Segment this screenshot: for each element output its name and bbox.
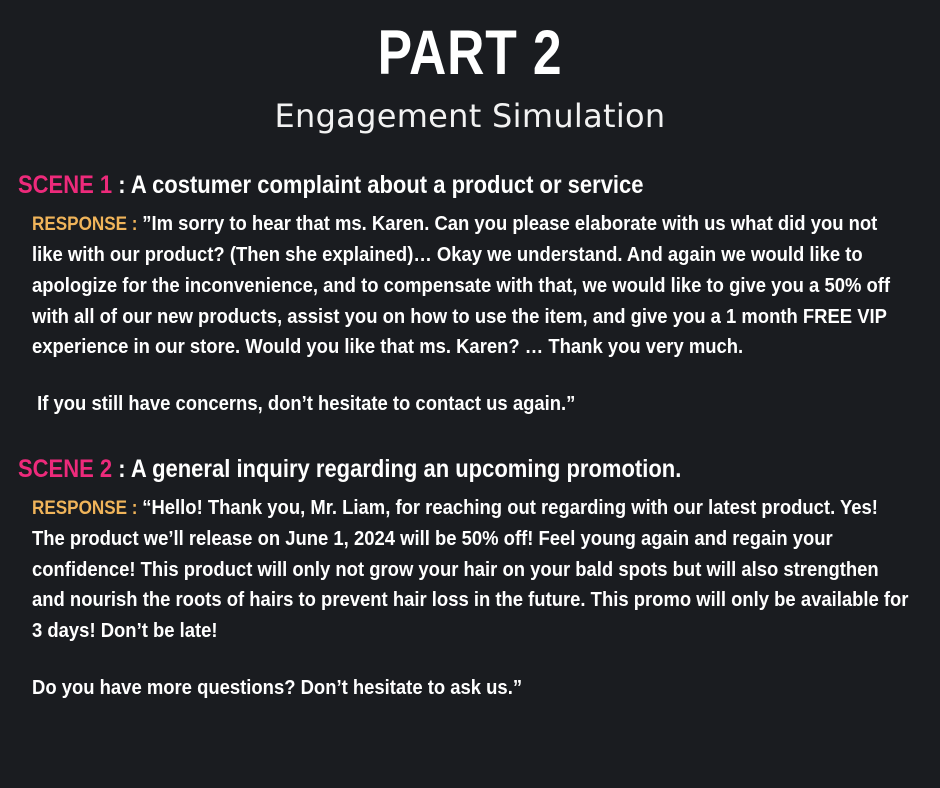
scene-separator-1: :: [112, 171, 131, 199]
slide-root: PART 2 Engagement Simulation SCENE 1 : A…: [0, 0, 940, 788]
scene-section-1: SCENE 1 : A costumer complaint about a p…: [18, 170, 922, 420]
response-block-2: RESPONSE : “Hello! Thank you, Mr. Liam, …: [18, 493, 922, 704]
title-block: PART 2 Engagement Simulation: [0, 0, 940, 134]
response-gap-1: [32, 363, 912, 389]
response-text-2a: “Hello! Thank you, Mr. Liam, for reachin…: [32, 496, 914, 642]
response-paragraph-1b: If you still have concerns, don’t hesita…: [32, 389, 911, 420]
response-separator-2: :: [127, 498, 142, 519]
response-text-2b: Do you have more questions? Don’t hesita…: [32, 676, 522, 699]
scene-heading-2: SCENE 2 : A general inquiry regarding an…: [18, 454, 814, 485]
scene-heading-1: SCENE 1 : A costumer complaint about a p…: [18, 170, 814, 201]
scene-title-2: A general inquiry regarding an upcoming …: [131, 455, 681, 483]
scene-title-1: A costumer complaint about a product or …: [131, 171, 644, 199]
response-paragraph-2b: Do you have more questions? Don’t hesita…: [32, 673, 911, 704]
scenes-container: SCENE 1 : A costumer complaint about a p…: [0, 134, 940, 704]
response-block-1: RESPONSE : ”Im sorry to hear that ms. Ka…: [18, 209, 922, 420]
response-text-1a: ”Im sorry to hear that ms. Karen. Can yo…: [32, 212, 895, 358]
response-separator-1: :: [127, 214, 142, 235]
response-label-1: RESPONSE: [32, 214, 127, 235]
response-text-1b: If you still have concerns, don’t hesita…: [32, 392, 575, 415]
response-gap-2: [32, 647, 912, 673]
page-title: PART 2: [85, 22, 856, 85]
response-paragraph-1a: RESPONSE : ”Im sorry to hear that ms. Ka…: [32, 209, 911, 363]
page-subtitle: Engagement Simulation: [0, 99, 940, 134]
scene-label-2: SCENE 2: [18, 455, 112, 483]
response-paragraph-2a: RESPONSE : “Hello! Thank you, Mr. Liam, …: [32, 493, 911, 647]
response-label-2: RESPONSE: [32, 498, 127, 519]
scene-section-2: SCENE 2 : A general inquiry regarding an…: [18, 454, 922, 704]
scene-separator-2: :: [112, 455, 131, 483]
scene-label-1: SCENE 1: [18, 171, 112, 199]
